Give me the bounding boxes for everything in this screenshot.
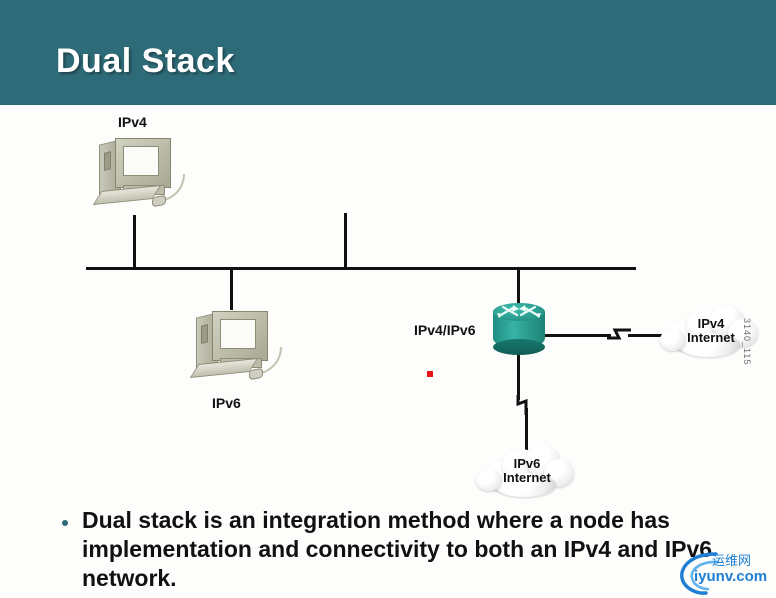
bullet-marker-icon: [62, 520, 68, 526]
network-diagram: IPv4 IPv6: [0, 105, 776, 505]
pc-mouse: [249, 368, 263, 380]
cloud-ipv6-internet-icon: IPv6 Internet: [472, 443, 582, 501]
watermark-url-text: iyunv.com: [694, 568, 767, 585]
pc-mouse: [152, 195, 166, 207]
workstation-ipv4-icon: [95, 130, 191, 210]
lightning-bolt-icon-right: [605, 326, 633, 346]
red-marker-dot: [427, 371, 433, 377]
pc-screen: [220, 319, 256, 349]
link-pc-ipv4-to-bus: [133, 215, 136, 270]
workstation-ipv4-label: IPv4: [118, 114, 147, 130]
slide: Dual Stack IPv4: [0, 0, 776, 598]
course-code-label: 3140_115: [742, 318, 752, 365]
lightning-bolt-icon-bottom: [510, 393, 534, 417]
router-base: [493, 339, 545, 355]
cloud-ipv6-label-line1: IPv6: [472, 457, 582, 471]
pc-screen: [123, 146, 159, 176]
bullet-item: Dual stack is an integration method wher…: [62, 506, 762, 593]
page-title: Dual Stack: [56, 42, 235, 81]
body-content: Dual stack is an integration method wher…: [62, 506, 762, 593]
slide-header-banner: Dual Stack: [0, 0, 776, 105]
pc-tower-slot: [104, 151, 111, 171]
watermark: 运维网 iyunv.com: [676, 548, 776, 598]
router-arrows-icon: [493, 302, 545, 324]
bus-stub-upper: [344, 213, 347, 270]
pc-tower-slot: [201, 324, 208, 344]
ethernet-bus-line: [86, 267, 636, 270]
workstation-ipv6-icon: [192, 303, 288, 383]
bullet-text: Dual stack is an integration method wher…: [82, 506, 762, 593]
router-label: IPv4/IPv6: [414, 322, 476, 338]
cloud-ipv6-label-line2: Internet: [472, 471, 582, 485]
link-router-to-ipv4-internet-left: [545, 334, 611, 337]
link-bus-to-router: [517, 268, 520, 304]
router-icon: [489, 301, 549, 357]
workstation-ipv6-label: IPv6: [212, 395, 241, 411]
watermark-cn-text: 运维网: [712, 550, 751, 569]
